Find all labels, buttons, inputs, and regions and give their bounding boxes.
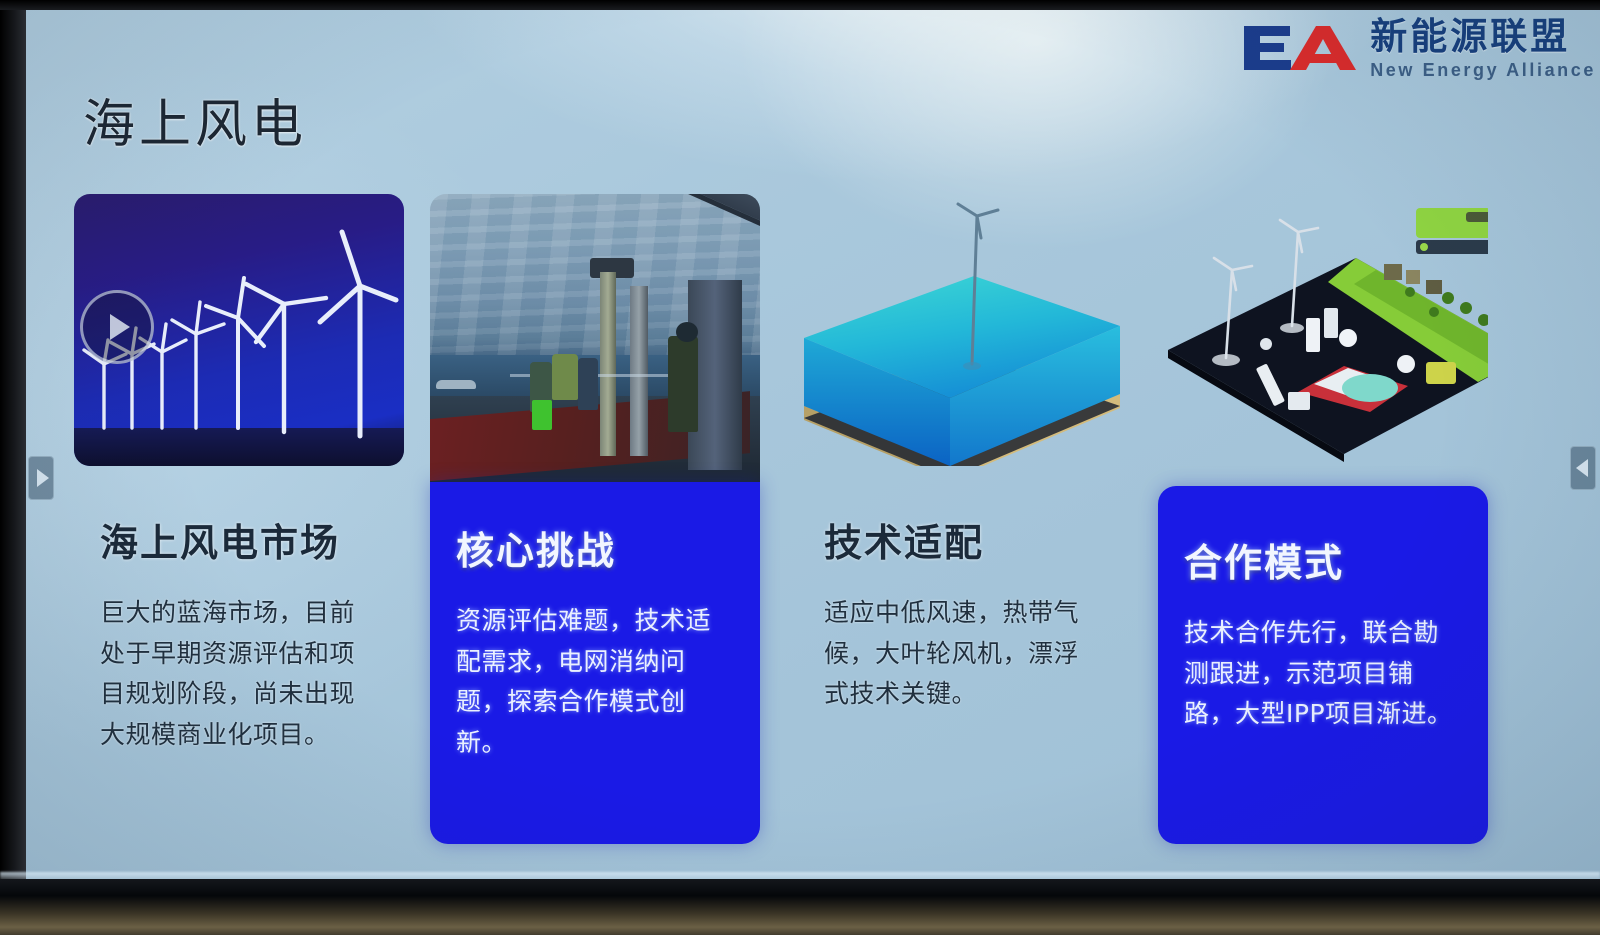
worker-hi-vis (532, 400, 552, 430)
coastal-scene-diagram-icon (1158, 194, 1488, 466)
card-grid: 海上风电市场 巨大的蓝海市场，目前处于早期资源评估和项目规划阶段，尚未出现大规模… (26, 8, 1600, 880)
isometric-sea-block-turbine (798, 194, 1128, 466)
card-body: 适应中低风速，热带气候，大叶轮风机，漂浮式技术关键。 (824, 593, 1102, 715)
worker-figure (578, 358, 598, 410)
worker-helmet (676, 322, 698, 342)
worker-figure (552, 354, 578, 400)
card-body: 技术合作先行，联合勘测跟进，示范项目铺路，大型IPP项目渐进。 (1184, 613, 1462, 735)
worker-figure (668, 336, 698, 432)
mast-shape (600, 272, 616, 456)
card-title: 合作模式 (1184, 532, 1462, 587)
previous-slide-button[interactable] (28, 456, 54, 500)
card-offshore-wind-market[interactable]: 海上风电市场 巨大的蓝海市场，目前处于早期资源评估和项目规划阶段，尚未出现大规模… (74, 194, 404, 844)
isometric-coastal-project-scene (1158, 194, 1488, 466)
card-body: 资源评估难题，技术适配需求，电网消纳问题，探索合作模式创新。 (456, 601, 734, 763)
next-slide-button[interactable] (1570, 446, 1596, 490)
play-button-watermark-icon (80, 290, 154, 364)
distant-boat-shape (436, 380, 476, 389)
presentation-slide: 新能源联盟 New Energy Alliance 海上风电 (26, 8, 1600, 880)
projector-screen-frame: 新能源联盟 New Energy Alliance 海上风电 (0, 0, 1600, 935)
card-text-panel: 合作模式 技术合作先行，联合勘测跟进，示范项目铺路，大型IPP项目渐进。 (1158, 486, 1488, 844)
card-title: 海上风电市场 (100, 512, 378, 567)
green-bar-element (1416, 208, 1488, 254)
card-text-panel: 技术适配 适应中低风速，热带气候，大叶轮风机，漂浮式技术关键。 (798, 466, 1128, 715)
card-core-challenges[interactable]: 核心挑战 资源评估难题，技术适配需求，电网消纳问题，探索合作模式创新。 (430, 194, 760, 844)
screen-bezel-top (0, 0, 1600, 10)
card-technology-adaptation[interactable]: 技术适配 适应中低风速，热带气候，大叶轮风机，漂浮式技术关键。 (798, 194, 1128, 844)
mast-secondary-shape (630, 286, 648, 456)
screen-bezel-bottom (0, 879, 1600, 935)
card-text-panel: 海上风电市场 巨大的蓝海市场，目前处于早期资源评估和项目规划阶段，尚未出现大规模… (74, 466, 404, 755)
card-cooperation-model[interactable]: 合作模式 技术合作先行，联合勘测跟进，示范项目铺路，大型IPP项目渐进。 (1158, 194, 1488, 844)
card-body: 巨大的蓝海市场，目前处于早期资源评估和项目规划阶段，尚未出现大规模商业化项目。 (100, 593, 378, 755)
offshore-platform-photo (430, 194, 760, 482)
sea-block-diagram-icon (798, 194, 1128, 466)
card-title: 核心挑战 (456, 520, 734, 575)
screen-bezel-left (0, 0, 26, 935)
offshore-wind-farm-illustration (74, 194, 404, 466)
card-text-panel: 核心挑战 资源评估难题，技术适配需求，电网消纳问题，探索合作模式创新。 (430, 482, 760, 844)
card-title: 技术适配 (824, 512, 1102, 567)
